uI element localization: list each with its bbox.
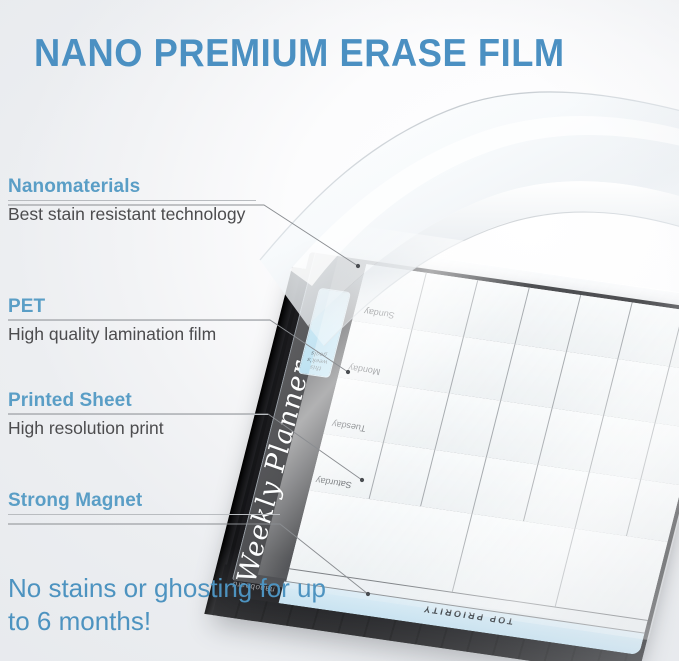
planner-row: Tuesday <box>323 377 679 488</box>
feature-pet: PET High quality lamination film <box>8 296 308 345</box>
sticky-note-text: this week's goals <box>302 349 333 373</box>
feature-strong-magnet: Strong Magnet <box>8 490 308 515</box>
page-title: NANO PREMIUM ERASE FILM <box>34 30 601 78</box>
day-label-saturday: Saturday <box>315 475 353 490</box>
feature-printed-sheet: Printed Sheet High resolution print <box>8 390 308 439</box>
planner-row: Monday <box>338 321 679 432</box>
day-label-sunday: Sunday <box>363 306 396 320</box>
product-infographic: Weekly Planner this week's goals Sunday … <box>0 0 679 661</box>
feature-heading: Nanomaterials <box>8 176 308 198</box>
tagline: No stains or ghosting for up to 6 months… <box>8 572 338 638</box>
feature-description: High resolution print <box>8 418 308 439</box>
feature-heading: Strong Magnet <box>8 490 308 512</box>
leader-dot-nanomaterials <box>356 264 360 268</box>
feature-description: High quality lamination film <box>8 324 308 345</box>
feature-nanomaterials: Nanomaterials Best stain resistant techn… <box>8 176 308 225</box>
leader-dot-pet <box>346 370 350 374</box>
feature-description: Best stain resistant technology <box>8 204 308 225</box>
nano-film-layer <box>250 80 679 400</box>
feature-heading: Printed Sheet <box>8 390 308 412</box>
feature-divider <box>8 200 256 201</box>
planner-row <box>289 490 677 622</box>
feature-divider <box>8 514 280 515</box>
planner-grid: Sunday Monday <box>282 264 679 652</box>
feature-heading: PET <box>8 296 308 318</box>
feature-divider <box>8 414 268 415</box>
planner-row: Saturday <box>309 434 679 545</box>
feature-divider <box>8 320 270 321</box>
leader-dot-strong-magnet <box>366 592 370 596</box>
leader-dot-printed-sheet <box>360 478 364 482</box>
planner-row: Sunday <box>352 264 679 375</box>
day-label-monday: Monday <box>347 363 381 377</box>
day-label-tuesday: Tuesday <box>331 419 367 434</box>
